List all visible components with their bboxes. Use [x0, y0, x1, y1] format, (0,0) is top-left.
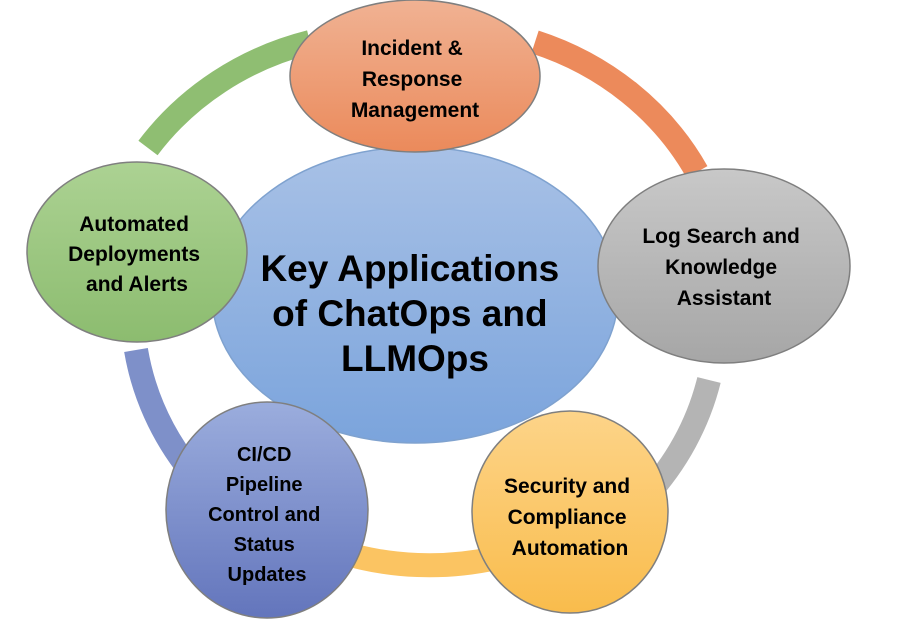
- node-line-1: Deployments: [68, 243, 200, 266]
- node-label-automated-deployments-alerts: Automated Deployments and Alerts: [68, 213, 206, 296]
- node-line-0: Log Search and: [642, 225, 800, 248]
- center-hub[interactable]: Key Applications of ChatOps and LLMOps: [212, 147, 618, 443]
- node-line-3: Status: [234, 534, 295, 556]
- node-line-1: Knowledge: [665, 256, 777, 279]
- cycle-diagram: Key Applications of ChatOps and LLMOps I…: [0, 0, 900, 621]
- arc-amber-security-to-cicd: [340, 552, 496, 565]
- node-line-2: Control and: [208, 504, 320, 526]
- node-log-search-knowledge-assistant[interactable]: Log Search and Knowledge Assistant: [598, 169, 850, 363]
- node-line-1: Response: [362, 68, 462, 91]
- node-line-0: CI/CD: [237, 444, 291, 466]
- center-line-0: Key Applications: [260, 248, 559, 289]
- node-line-0: Incident &: [361, 37, 463, 60]
- center-line-2: LLMOps: [341, 338, 489, 379]
- node-automated-deployments-alerts[interactable]: Automated Deployments and Alerts: [27, 162, 247, 342]
- node-line-4: Updates: [228, 564, 307, 586]
- node-incident-response-management[interactable]: Incident & Response Management: [290, 0, 540, 152]
- arc-salmon-incident-to-log-search: [535, 42, 697, 172]
- node-line-2: Assistant: [677, 287, 772, 310]
- center-line-1: of ChatOps and: [272, 293, 547, 334]
- node-line-2: and Alerts: [86, 273, 188, 296]
- node-label-incident-response-management: Incident & Response Management: [351, 37, 479, 122]
- node-line-0: Security and: [504, 475, 630, 498]
- diagram-canvas: Key Applications of ChatOps and LLMOps I…: [0, 0, 900, 621]
- node-line-2: Automation: [512, 537, 629, 560]
- node-label-security-compliance-automation: Security and Compliance Automation: [504, 475, 636, 560]
- node-cicd-pipeline-control-status-updates[interactable]: CI/CD Pipeline Control and Status Update…: [166, 402, 368, 618]
- arc-green-automated-to-incident: [148, 42, 310, 148]
- node-line-1: Compliance: [508, 506, 627, 529]
- node-security-compliance-automation[interactable]: Security and Compliance Automation: [472, 411, 668, 613]
- node-line-1: Pipeline: [226, 474, 303, 496]
- node-line-0: Automated: [79, 213, 189, 236]
- node-line-2: Management: [351, 99, 479, 122]
